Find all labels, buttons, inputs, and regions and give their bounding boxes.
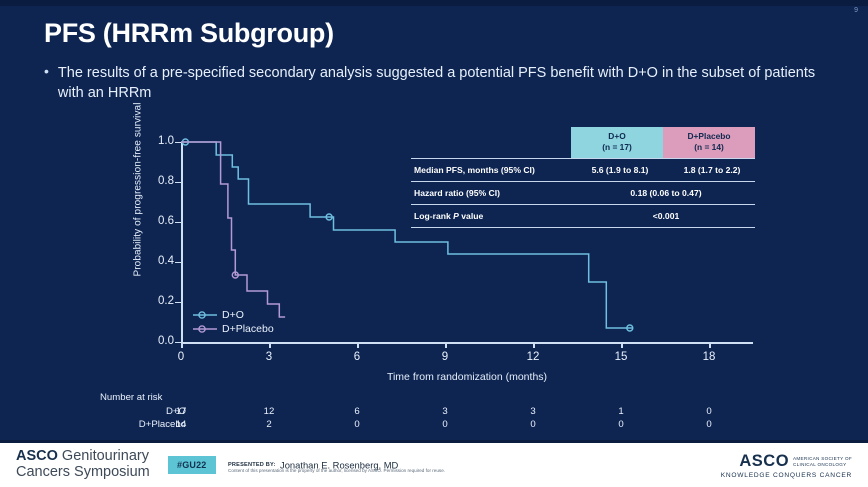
bullet-row: • The results of a pre-specified seconda… [44, 63, 834, 103]
asco-logo-wordmark: ASCO [739, 452, 789, 471]
asco-gu-bold: ASCO [16, 448, 58, 464]
top-accent-strip [0, 0, 868, 6]
header-do-n: (n = 17) [571, 142, 663, 153]
row-value-log-rank-p: <0.001 [574, 211, 758, 221]
asco-sub-line2: CLINICAL ONCOLOGY [793, 462, 846, 467]
risk-value: 0 [518, 419, 548, 430]
legend-item-do: D+O [192, 308, 274, 322]
row-label-log-rank-p: Log-rank P value [411, 211, 574, 221]
risk-value: 0 [342, 419, 372, 430]
header-cell-do: D+O (n = 17) [571, 127, 663, 158]
row-label-hazard-ratio: Hazard ratio (95% CI) [411, 188, 574, 198]
chart-legend: D+O D+Placebo [192, 308, 274, 336]
row-value-median-pfs-placebo: 1.8 (1.7 to 2.2) [666, 165, 758, 175]
risk-value: 0 [694, 406, 724, 417]
asco-logo: ASCOAMERICAN SOCIETY OFCLINICAL ONCOLOGY… [721, 452, 852, 479]
table-row: Median PFS, months (95% CI) 5.6 (1.9 to … [411, 158, 755, 181]
asco-gu-line1: ASCO Genitourinary [16, 449, 150, 465]
km-curve-d-placebo [181, 142, 285, 317]
risk-value: 17 [166, 406, 196, 417]
bullet-text: The results of a pre-specified secondary… [58, 63, 834, 103]
legend-label-placebo: D+Placebo [222, 323, 274, 335]
asco-logo-subtitle: AMERICAN SOCIETY OFCLINICAL ONCOLOGY [793, 456, 852, 468]
presented-by-label: PRESENTED BY: [228, 462, 276, 468]
row-value-median-pfs-do: 5.6 (1.9 to 8.1) [574, 165, 666, 175]
bullet-marker-icon: • [44, 63, 49, 103]
legend-item-placebo: D+Placebo [192, 322, 274, 336]
footer-divider [0, 440, 868, 443]
risk-value: 12 [254, 406, 284, 417]
legend-label-do: D+O [222, 309, 244, 321]
risk-row-do: D+O171263310 [100, 406, 800, 419]
log-rank-text: Log-rank [414, 211, 453, 221]
asco-sub-line1: AMERICAN SOCIETY OF [793, 456, 852, 461]
table-row: Log-rank P value <0.001 [411, 204, 755, 228]
header-do-label: D+O [571, 131, 663, 142]
risk-value: 3 [430, 406, 460, 417]
legend-swatch-do-icon [192, 309, 218, 321]
page-number: 9 [854, 7, 858, 14]
header-spacer [411, 127, 571, 158]
log-rank-tail: value [459, 211, 483, 221]
risk-value: 14 [166, 419, 196, 430]
row-label-median-pfs: Median PFS, months (95% CI) [411, 165, 574, 175]
legend-swatch-placebo-icon [192, 323, 218, 335]
statistics-table: D+O (n = 17) D+Placebo (n = 14) Median P… [411, 127, 755, 228]
header-placebo-label: D+Placebo [663, 131, 755, 142]
risk-value: 0 [430, 419, 460, 430]
risk-value: 0 [606, 419, 636, 430]
risk-value: 0 [694, 419, 724, 430]
number-at-risk-title: Number at risk [100, 392, 162, 403]
risk-value: 2 [254, 419, 284, 430]
page-title: PFS (HRRm Subgroup) [44, 18, 334, 49]
header-placebo-n: (n = 14) [663, 142, 755, 153]
table-row: Hazard ratio (95% CI) 0.18 (0.06 to 0.47… [411, 181, 755, 204]
hashtag-badge: #GU22 [168, 456, 216, 474]
risk-row-placebo: D+Placebo14200000 [100, 419, 800, 432]
slide: 9 PFS (HRRm Subgroup) • The results of a… [0, 0, 868, 487]
header-cell-placebo: D+Placebo (n = 14) [663, 127, 755, 158]
asco-logo-tagline: KNOWLEDGE CONQUERS CANCER [721, 472, 852, 479]
risk-value: 6 [342, 406, 372, 417]
copyright-disclaimer: Content of this presentation is the prop… [228, 468, 445, 473]
asco-gu-line2: Cancers Symposium [16, 465, 150, 481]
x-axis-title: Time from randomization (months) [181, 371, 753, 383]
statistics-table-header: D+O (n = 17) D+Placebo (n = 14) [411, 127, 755, 158]
risk-value: 1 [606, 406, 636, 417]
asco-logo-row: ASCOAMERICAN SOCIETY OFCLINICAL ONCOLOGY [721, 452, 852, 471]
asco-gu-logo: ASCO Genitourinary Cancers Symposium [16, 449, 150, 480]
risk-value: 3 [518, 406, 548, 417]
asco-gu-rest: Genitourinary [58, 448, 149, 464]
row-value-hazard-ratio: 0.18 (0.06 to 0.47) [574, 188, 758, 198]
